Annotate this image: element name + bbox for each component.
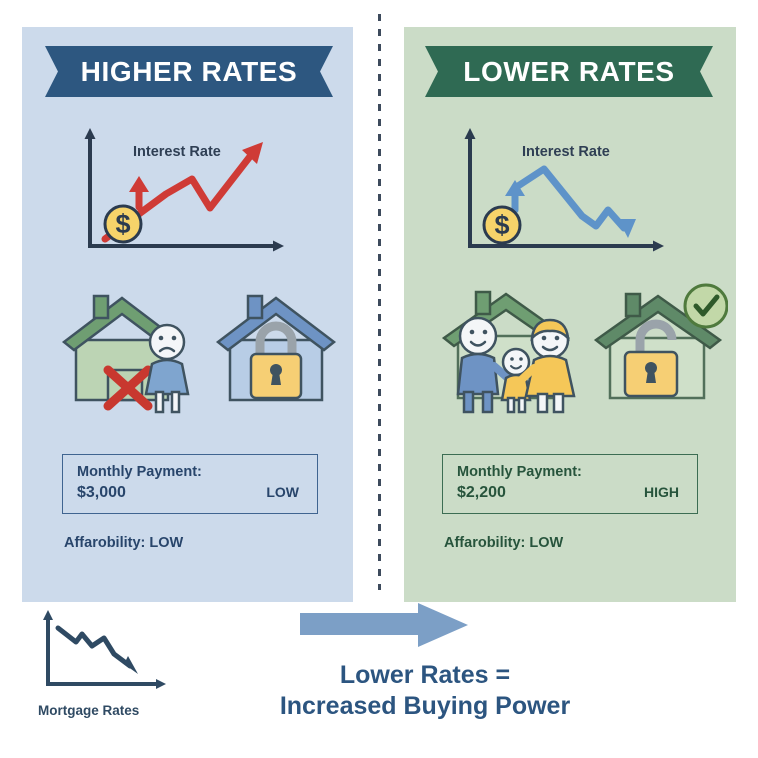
check-circle-icon [685,285,727,327]
father-body [458,354,498,394]
banner-lower-rates: LOWER RATES [425,46,713,97]
mini-x-arrowhead [156,679,166,689]
interest-rate-label-lower: Interest Rate [522,144,610,160]
person-body [146,360,188,394]
affordability-label-lower: Affarobility: LOW [444,535,563,551]
conclusion-line-2: Increased Buying Power [230,691,620,722]
right-arrow-icon [300,602,468,648]
conclusion-text: Lower Rates = Increased Buying Power [230,660,620,721]
monthly-payment-row-higher: $3,000 LOW [77,484,303,502]
affordability-label-higher: Affarobility: LOW [64,535,183,551]
mortgage-rates-caption: Mortgage Rates [38,703,139,718]
panel-divider [378,14,381,590]
house-chimney [626,294,640,316]
infographic-canvas: HIGHER RATES $ Interest Rate [0,0,758,758]
banner-higher-rates-label: HIGHER RATES [81,58,298,86]
house-chimney [248,296,262,318]
house-chimney [94,296,108,318]
monthly-payment-box-lower: Monthly Payment: $2,200 HIGH [442,454,698,514]
monthly-payment-box-higher: Monthly Payment: $3,000 LOW [62,454,318,514]
interest-rate-label-higher: Interest Rate [133,144,221,160]
mother-body [526,356,574,396]
mini-trend-line-down [58,628,130,666]
y-axis-arrowhead [465,128,476,139]
right-arrow-shape [300,603,468,647]
monthly-payment-flag-lower: HIGH [644,484,679,500]
house-chimney [476,292,490,314]
monthly-payment-title-higher: Monthly Payment: [77,464,303,481]
trend-line-down [518,169,624,228]
conclusion-line-1: Lower Rates = [230,660,620,691]
monthly-payment-title-lower: Monthly Payment: [457,464,683,481]
mini-trend-arrowhead [124,656,138,674]
house-locked-icon [218,296,334,400]
artwork-affordable-home [428,278,728,414]
dollar-sign-icon: $ [494,210,509,240]
monthly-payment-row-lower: $2,200 HIGH [457,484,683,502]
monthly-payment-amount-higher: $3,000 [77,484,126,502]
monthly-payment-amount-lower: $2,200 [457,484,506,502]
mini-chart-axes [48,616,160,684]
banner-lower-rates-label: LOWER RATES [463,58,674,86]
banner-higher-rates: HIGHER RATES [45,46,333,97]
artwork-unaffordable-home [48,282,338,414]
mortgage-rates-mini-chart [34,608,174,698]
dollar-sign-icon: $ [115,209,130,239]
y-axis-arrowhead [85,128,96,139]
small-up-arrow-head [129,176,149,192]
x-axis-arrowhead [653,241,664,252]
mini-y-arrowhead [43,610,53,620]
monthly-payment-flag-higher: LOW [266,484,299,500]
x-axis-arrowhead [273,241,284,252]
